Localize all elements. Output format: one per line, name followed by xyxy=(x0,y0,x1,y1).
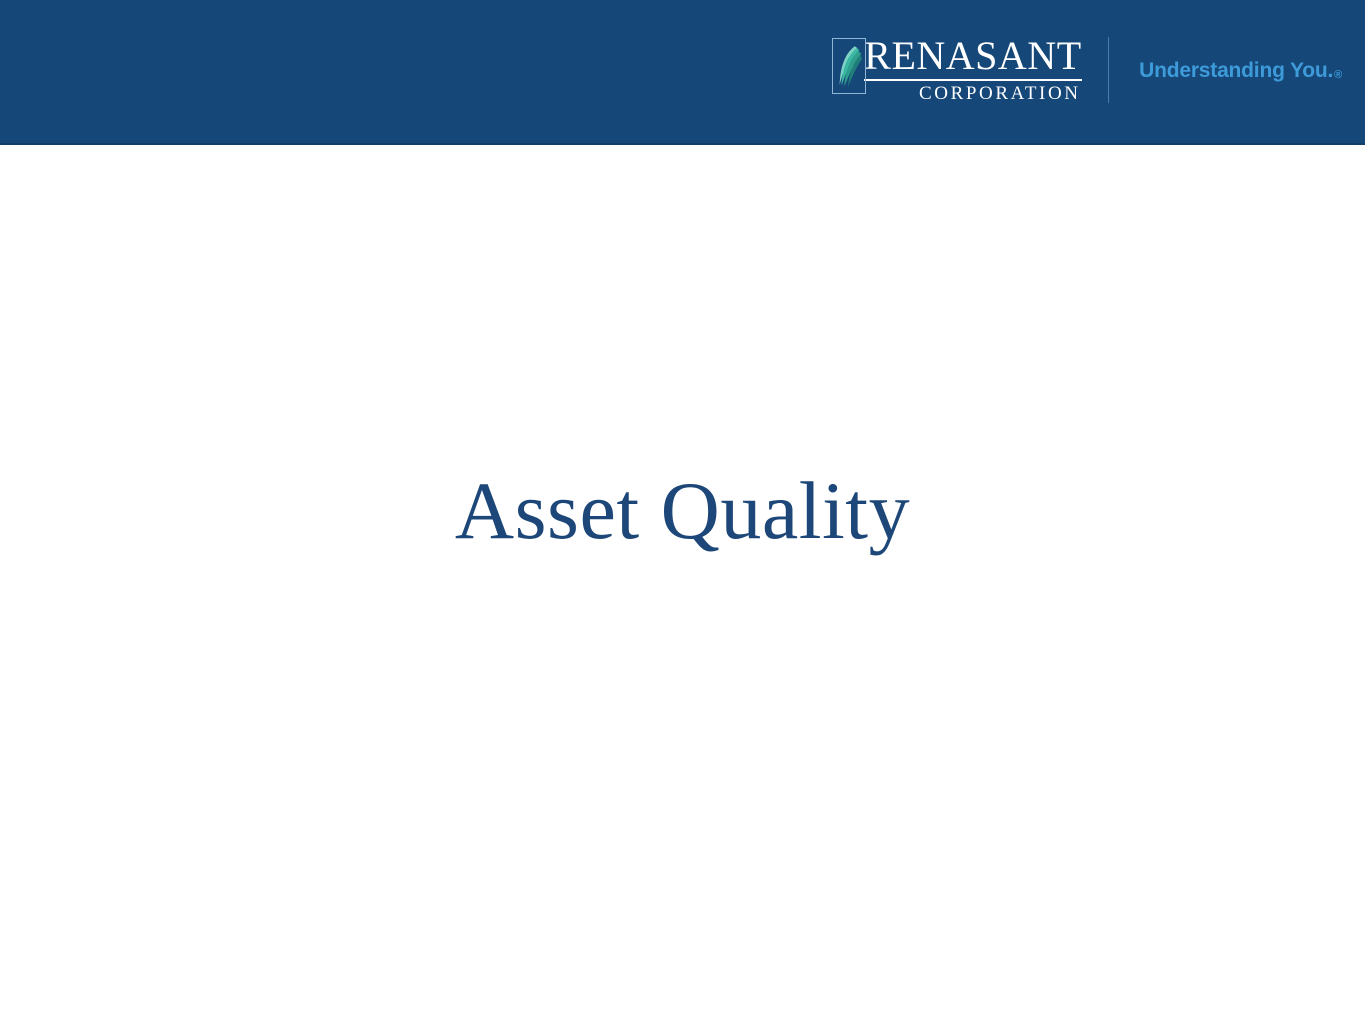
page-title: Asset Quality xyxy=(0,463,1365,559)
renasant-leaf-mark-icon xyxy=(832,38,866,94)
brand-tagline-text: Understanding You. xyxy=(1139,59,1333,82)
presentation-slide: RENASANT CORPORATION Understanding You.®… xyxy=(0,0,1365,1024)
wordmark-secondary: CORPORATION xyxy=(864,83,1081,105)
slide-body: Asset Quality xyxy=(0,145,1365,1024)
brand-tagline: Understanding You.® xyxy=(1139,59,1341,83)
renasant-wordmark: RENASANT CORPORATION xyxy=(864,34,1081,105)
wordmark-primary: RENASANT xyxy=(864,34,1081,78)
renasant-logo: RENASANT CORPORATION xyxy=(832,34,1081,106)
wordmark-rule xyxy=(864,79,1081,81)
slide-header-band: RENASANT CORPORATION Understanding You.® xyxy=(0,0,1365,145)
brand-divider xyxy=(1108,37,1110,103)
brand-lockup: RENASANT CORPORATION Understanding You.® xyxy=(832,30,1341,110)
registered-mark-icon: ® xyxy=(1334,69,1342,81)
